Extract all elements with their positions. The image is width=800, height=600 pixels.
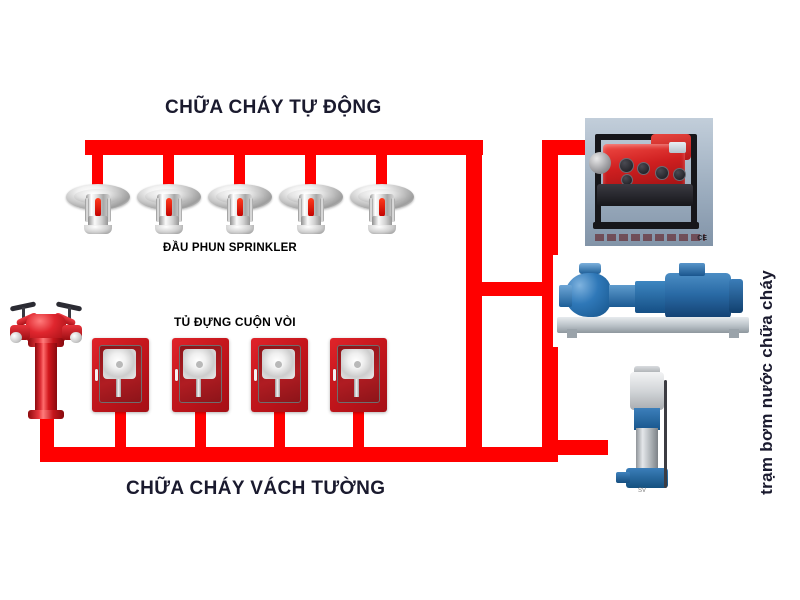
sprinkler-deflector: [226, 225, 254, 234]
motor-fan-cover: [729, 279, 743, 313]
sprinkler-deflector: [155, 225, 183, 234]
photo-caption-text: [595, 234, 705, 241]
sprinkler-deflector: [297, 225, 325, 234]
pipe-cabinet-drop-1: [115, 410, 126, 450]
hose-reel-icon: [341, 349, 374, 379]
hose-nozzle-icon: [275, 379, 280, 397]
hose-nozzle-icon: [116, 379, 121, 397]
sprinkler-glass-bulb: [95, 198, 101, 217]
sprinkler-head: [66, 178, 130, 240]
sprinkler-glass-bulb: [308, 198, 314, 217]
hose-reel-icon: [103, 349, 136, 379]
pump-suction-flange: [559, 285, 572, 307]
pump-baseplate: [557, 317, 749, 333]
sprinkler-deflector: [368, 225, 396, 234]
pipe-cabinet-drop-2: [195, 410, 206, 450]
pipe-sprinkler-main: [85, 140, 483, 155]
hose-cabinet: [172, 338, 229, 412]
pipe-left-riser: [466, 140, 482, 462]
pipe-branch-portable-pump: [542, 140, 590, 155]
photo-caption-text: SV: [638, 488, 646, 494]
pump-coupling-guard: [635, 281, 667, 313]
cabinet-handle: [333, 369, 336, 381]
pump-gauge: [655, 166, 669, 180]
pump-gauge: [619, 158, 634, 173]
pipe-cabinet-drop-3: [274, 410, 285, 450]
hose-cabinet: [92, 338, 149, 412]
electric-motor: [665, 273, 731, 319]
pump-control-panel: [669, 142, 686, 153]
hose-cabinet: [330, 338, 387, 412]
cabinet-glass-door: [99, 345, 142, 403]
pump-suction-port: [589, 152, 611, 174]
pump-frame-bar: [593, 222, 699, 229]
baseplate-foot: [729, 329, 739, 338]
label-sprinkler-head: ĐẦU PHUN SPRINKLER: [163, 242, 297, 254]
pump-frame-bar: [691, 136, 697, 228]
motor-junction-box: [679, 263, 705, 276]
pump-lantern-ring: [634, 408, 660, 430]
sprinkler-deflector: [84, 225, 112, 234]
pump-suction-port: [616, 472, 630, 483]
sprinkler-head: [350, 178, 414, 240]
hose-nozzle-icon: [196, 379, 201, 397]
motor-power-cable: [664, 380, 667, 488]
pump-gauge: [637, 162, 650, 175]
cabinet-glass-door: [258, 345, 301, 403]
hydrant-barrel: [35, 343, 57, 415]
pipe-bottom-main: [40, 447, 482, 462]
cabinet-glass-door: [337, 345, 380, 403]
hydrant-base-flange: [28, 410, 64, 419]
cabinet-handle: [254, 369, 257, 381]
cabinet-handle: [175, 369, 178, 381]
centrifugal-pump-photo: [553, 255, 753, 347]
pipe-right-riser-bottom: [466, 447, 558, 462]
hose-reel-icon: [262, 349, 295, 379]
pump-base-foot: [626, 468, 668, 488]
ce-mark-icon: CE: [697, 235, 707, 242]
pipe-cabinet-drop-4: [353, 410, 364, 450]
pump-base: [597, 184, 693, 206]
sprinkler-head: [137, 178, 201, 240]
hydrant-outlet-cap: [10, 332, 22, 343]
fire-protection-diagram: CE SV CHỮA CHÁY TỰ ĐỘNG ĐẦU PHUN SPRINKL…: [0, 0, 800, 600]
cabinet-glass-door: [179, 345, 222, 403]
hose-reel-icon: [183, 349, 216, 379]
cabinet-handle: [95, 369, 98, 381]
label-hose-reel-cabinet: TỦ ĐỰNG CUỘN VÒI: [174, 315, 296, 329]
title-wall-hydrant-system: CHỮA CHÁY VÁCH TƯỜNG: [126, 478, 385, 500]
sprinkler-head: [279, 178, 343, 240]
pump-bearing-housing: [609, 285, 637, 307]
sprinkler-glass-bulb: [379, 198, 385, 217]
hose-cabinet: [251, 338, 308, 412]
vertical-multistage-pump-photo: SV: [608, 362, 688, 496]
sprinkler-glass-bulb: [166, 198, 172, 217]
sprinkler-glass-bulb: [237, 198, 243, 217]
portable-fire-pump-photo: CE: [585, 118, 713, 246]
fire-hydrant: [8, 298, 84, 428]
baseplate-foot: [567, 329, 577, 338]
pump-gauge: [673, 168, 686, 181]
pump-frame-bar: [595, 136, 601, 228]
hydrant-outlet-cap: [70, 332, 82, 343]
electric-motor: [630, 372, 664, 410]
hose-nozzle-icon: [354, 379, 359, 397]
pump-stage-chamber: [636, 428, 658, 472]
label-pump-station: trạm bơm nước chữa cháy: [757, 270, 777, 495]
sprinkler-head: [208, 178, 272, 240]
title-automatic-sprinkler-system: CHỮA CHÁY TỰ ĐỘNG: [165, 97, 382, 119]
